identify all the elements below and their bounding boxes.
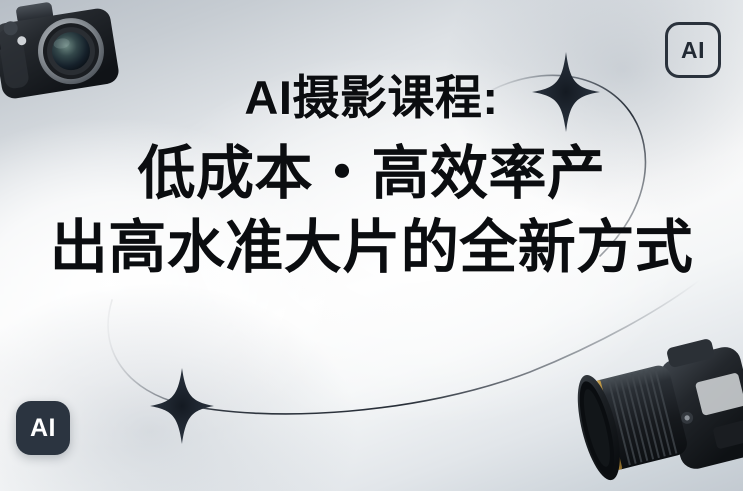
- poster-title: AI摄影课程: 低成本・高效率产 出高水准大片的全新方式: [0, 72, 743, 285]
- ai-badge-top-right: AI: [665, 22, 721, 78]
- ai-badge-bottom-left-label: AI: [30, 416, 56, 441]
- ai-badge-top-right-label: AI: [681, 39, 705, 62]
- background-vignette-bottom-left: [0, 281, 360, 491]
- title-line-1: AI摄影课程:: [0, 72, 743, 125]
- poster-canvas: AI摄影课程: 低成本・高效率产 出高水准大片的全新方式 AI AI: [0, 0, 743, 491]
- ai-badge-bottom-left: AI: [16, 401, 70, 455]
- camera-bottom-right: [563, 337, 743, 491]
- title-line-3: 出高水准大片的全新方式: [0, 211, 743, 285]
- title-line-2: 低成本・高效率产: [0, 137, 743, 211]
